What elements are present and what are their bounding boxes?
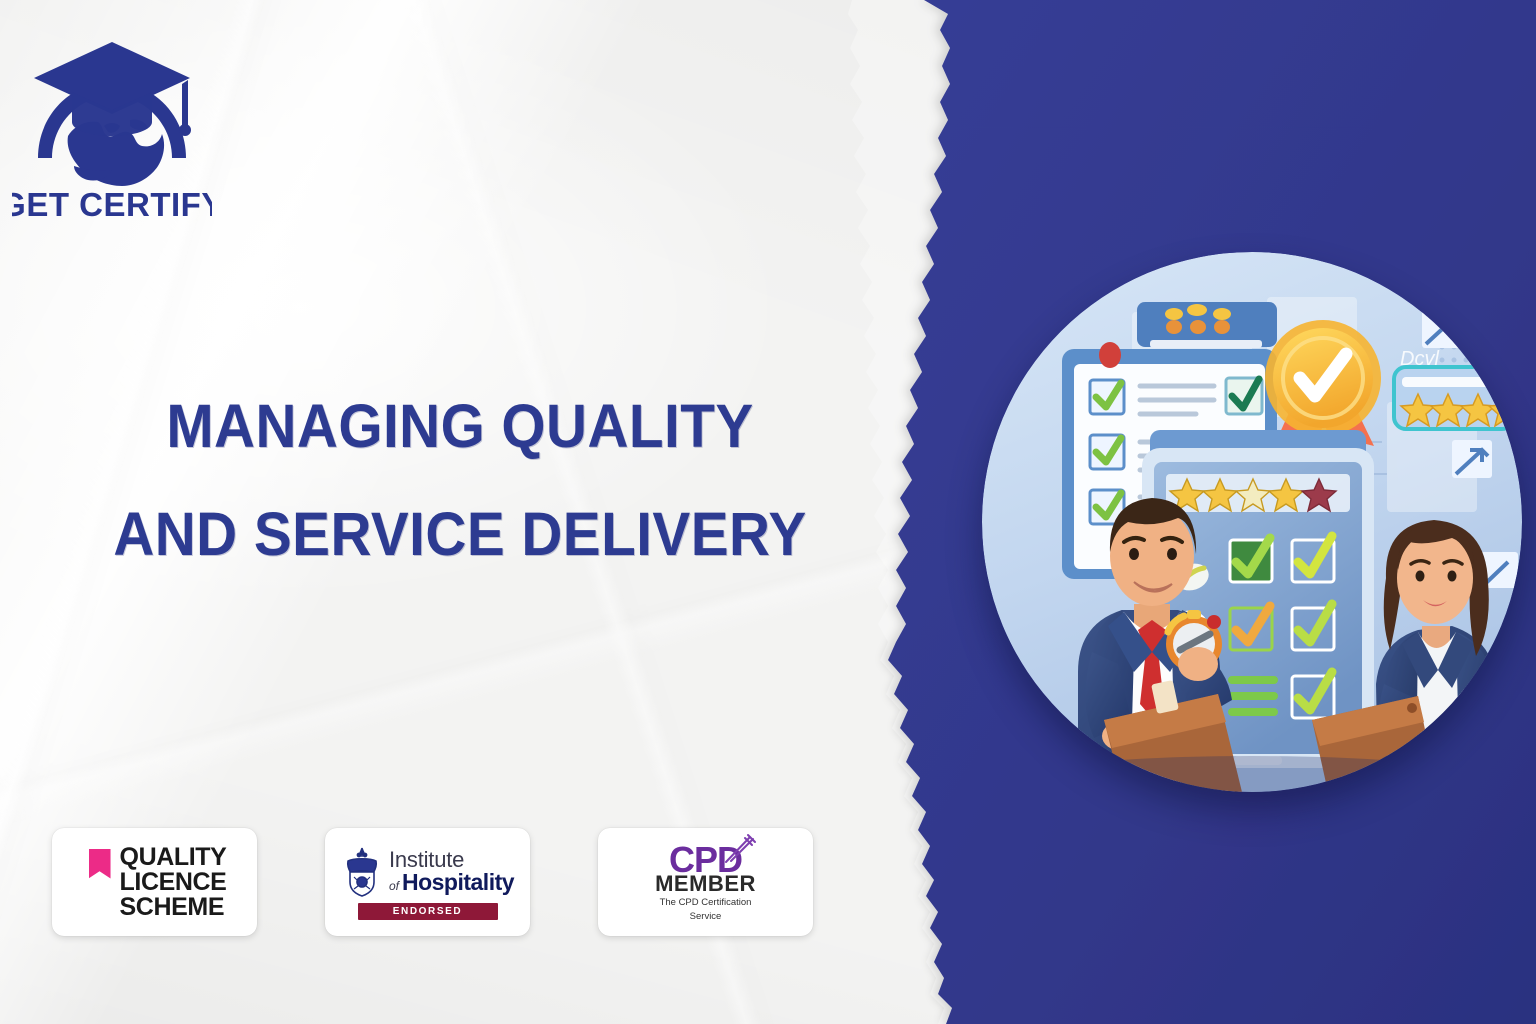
- ioh-endorsed-banner: ENDORSED: [358, 903, 498, 920]
- badge-quality-licence-scheme[interactable]: QUALITY LICENCE SCHEME: [52, 828, 257, 936]
- heraldic-crest-icon: [341, 844, 383, 898]
- ioh-institute-label: Institute: [389, 849, 514, 871]
- badge-cpd-member[interactable]: CPD MEMBER The CPD Certificat: [598, 828, 813, 936]
- title-line-2: AND SERVICE DELIVERY: [32, 480, 888, 588]
- quality-service-delivery-illustration: Dcvl: [982, 252, 1522, 792]
- accreditation-badges: QUALITY LICENCE SCHEME: [52, 828, 813, 936]
- svg-text:GET CERTIFY: GET CERTIFY: [12, 186, 212, 223]
- ioh-of-label: of: [389, 880, 399, 892]
- page-title: MANAGING QUALITY AND SERVICE DELIVERY: [0, 372, 920, 588]
- qls-line-1: QUALITY: [120, 845, 227, 870]
- ioh-hospitality-label: Hospitality: [402, 871, 514, 894]
- bookmark-icon: [89, 849, 111, 879]
- cpd-swoosh-icon: [722, 832, 758, 866]
- qls-line-2: LICENCE: [120, 870, 227, 895]
- qls-line-3: SCHEME: [120, 895, 227, 920]
- cpd-subtitle-line-1: The CPD Certification: [608, 897, 803, 908]
- brand-logo[interactable]: GET CERTIFY: [12, 30, 212, 225]
- title-line-1: MANAGING QUALITY: [32, 372, 888, 480]
- cpd-subtitle-line-2: Service: [608, 911, 803, 922]
- badge-institute-of-hospitality[interactable]: Institute of Hospitality ENDORSED: [325, 828, 530, 936]
- slide-canvas: GET CERTIFY MANAGING QUALITY AND SERVICE…: [0, 0, 1536, 1024]
